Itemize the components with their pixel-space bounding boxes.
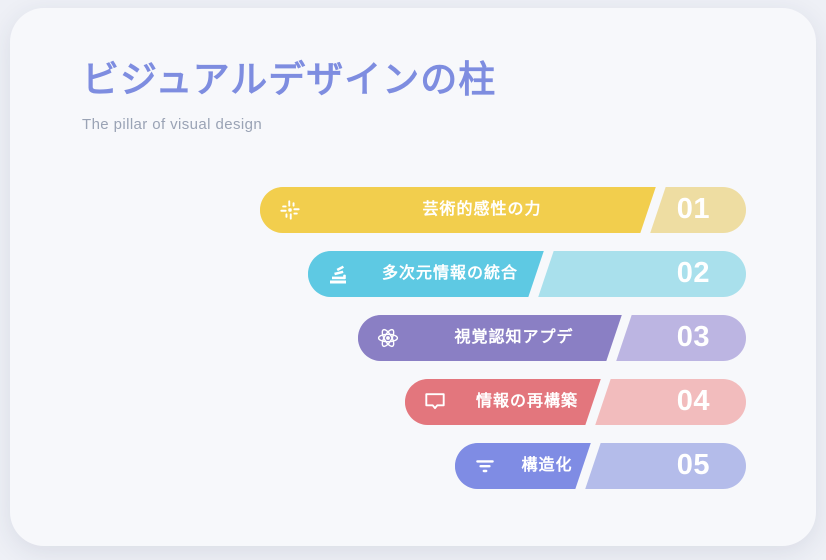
pillar-bar-number: 01 [677,187,710,233]
layers-stack-icon [326,262,350,286]
pillar-bar-row[interactable]: 芸術的感性の力01 [260,187,746,233]
pillar-bar-number: 05 [677,443,710,489]
pillar-bar-label: 視覚認知アプデ [410,315,618,361]
pillar-bar-row[interactable]: 情報の再構築04 [405,379,746,425]
content-card: ビジュアルデザインの柱 The pillar of visual design … [10,8,816,546]
pillar-bar-row[interactable]: 視覚認知アプデ03 [358,315,746,361]
slack-hash-icon [278,198,302,222]
pillar-bar-row[interactable]: 構造化05 [455,443,746,489]
pillar-bar-number: 04 [677,379,710,425]
pillar-bar-list: 芸術的感性の力01多次元情報の統合02視覚認知アプデ03情報の再構築04構造化0… [10,8,816,546]
pillar-bar-number: 03 [677,315,710,361]
filter-icon [473,454,497,478]
pillar-bar-label: 芸術的感性の力 [312,187,652,233]
pillar-bar-label: 情報の再構築 [457,379,597,425]
pillar-bar-row[interactable]: 多次元情報の統合02 [308,251,746,297]
pillar-bar-label: 構造化 [507,443,587,489]
pillar-bar-label: 多次元情報の統合 [360,251,540,297]
atom-icon [376,326,400,350]
message-square-icon [423,390,447,414]
pillar-bar-number: 02 [677,251,710,297]
